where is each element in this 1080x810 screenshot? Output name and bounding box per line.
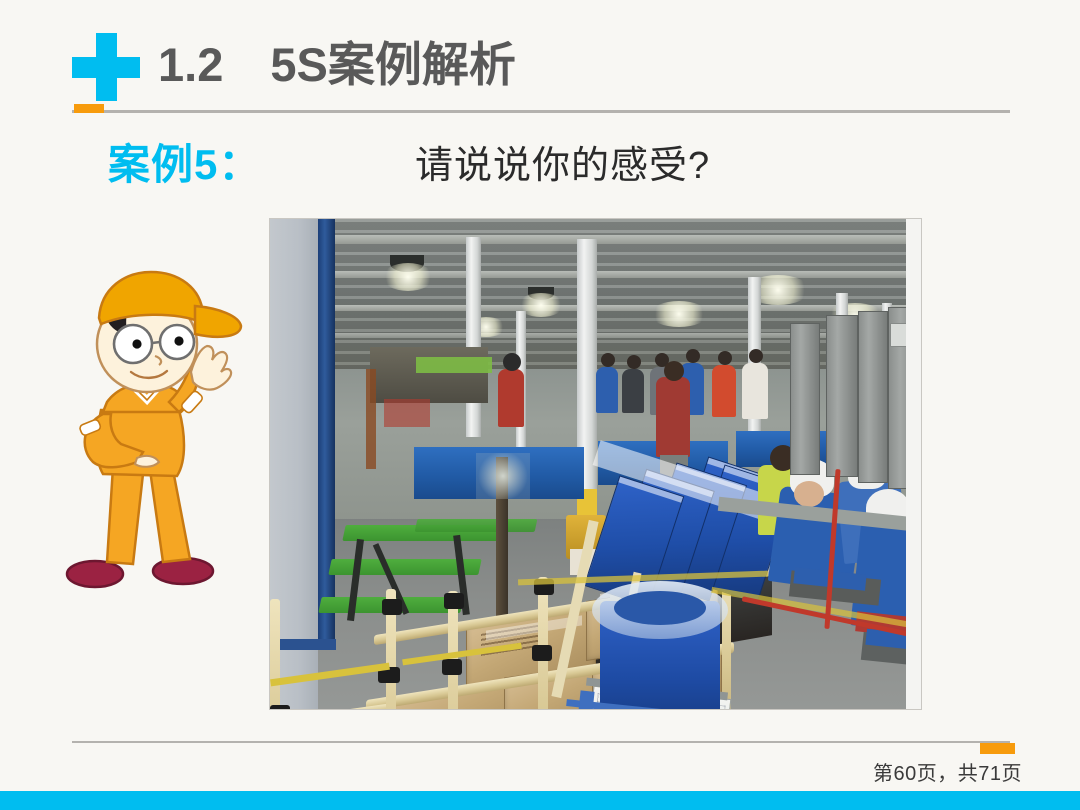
photo-worker-head bbox=[686, 349, 700, 363]
photo-pipe-joint bbox=[532, 645, 552, 661]
header-divider bbox=[72, 110, 1010, 113]
photo-worker bbox=[712, 365, 736, 417]
plus-icon bbox=[72, 33, 140, 101]
cartoon-worker-mascot bbox=[55, 262, 245, 592]
photo-pipe-joint bbox=[442, 659, 462, 675]
photo-machine bbox=[790, 323, 820, 475]
photo-lamp-glow bbox=[650, 301, 708, 327]
photo-worker-head bbox=[601, 353, 615, 367]
photo-back-shelf bbox=[370, 347, 488, 403]
photo-worker-head bbox=[749, 349, 763, 363]
photo-worker-red bbox=[656, 377, 690, 457]
photo-machine bbox=[826, 315, 858, 477]
footer-divider bbox=[72, 741, 1010, 743]
plus-icon-vertical-bar bbox=[96, 33, 117, 101]
case-question: 请说说你的感受? bbox=[415, 139, 710, 193]
photo-worker-head bbox=[627, 355, 641, 369]
slide: 1.2 5S案例解析 案例5： 请说说你的感受? bbox=[0, 0, 1080, 810]
photo-pipe-joint bbox=[444, 593, 464, 609]
factory-floor-photo bbox=[270, 219, 921, 709]
bottom-bar bbox=[0, 791, 1080, 810]
photo-canteen-table bbox=[415, 519, 538, 532]
photo-pipe-upright bbox=[538, 577, 548, 709]
photo-worker bbox=[622, 369, 644, 413]
photo-pipe-joint bbox=[382, 599, 402, 615]
photo-blue-post bbox=[318, 219, 335, 644]
photo-bin-opening bbox=[614, 591, 706, 625]
page-title: 1.2 5S案例解析 bbox=[158, 34, 516, 96]
header-accent-bar bbox=[74, 104, 104, 113]
photo-green-sign bbox=[416, 357, 492, 373]
photo-red-object bbox=[384, 399, 430, 427]
photo-worker bbox=[742, 363, 768, 419]
photo-worker-head bbox=[718, 351, 732, 365]
photo-machine bbox=[858, 311, 888, 483]
photo-worker bbox=[596, 367, 618, 413]
page-number: 第60页，共71页 bbox=[873, 757, 1022, 786]
footer-accent-bar bbox=[980, 743, 1015, 754]
photo-worker bbox=[498, 369, 524, 427]
photo-worker-head bbox=[794, 481, 824, 507]
photo-right-edge bbox=[906, 219, 921, 709]
photo-tree-foliage bbox=[476, 453, 530, 499]
photo-worker-head bbox=[664, 361, 684, 381]
photo-worker-head bbox=[503, 353, 521, 371]
photo-pillar bbox=[366, 369, 376, 469]
photo-pipe-joint bbox=[270, 705, 290, 709]
photo-pipe-upright bbox=[270, 599, 280, 709]
photo-column bbox=[466, 237, 481, 437]
case-label: 案例5： bbox=[108, 136, 261, 194]
photo-lamp-glow bbox=[382, 263, 434, 291]
